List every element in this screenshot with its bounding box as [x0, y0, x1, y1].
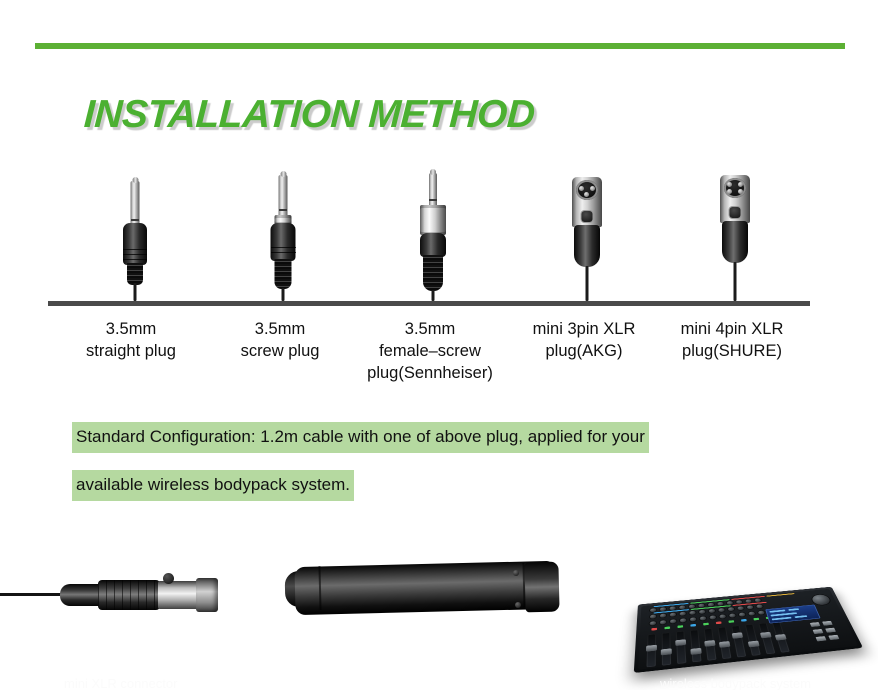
caption-left: mini XLR connector — [64, 676, 177, 690]
plug-label-3p5-screw: 3.5mm screw plug — [196, 318, 364, 362]
product-digital-mixer — [628, 540, 878, 690]
top-accent-rule — [35, 43, 845, 49]
plug-figure-mini-3pin-xlr — [512, 156, 662, 301]
plug-showcase — [0, 160, 878, 310]
caption-right: wireless bodypack system — [660, 676, 811, 690]
plug-label-line: mini 4pin XLR — [648, 318, 816, 340]
product-strip — [0, 540, 878, 690]
3.5mm-female-screw-plug-icon — [411, 156, 455, 301]
plug-label-line: 3.5mm — [196, 318, 364, 340]
plug-shelf-line — [48, 301, 810, 306]
plug-label-3p5-female-screw: 3.5mm female–screw plug(Sennheiser) — [346, 318, 514, 384]
plug-label-mini-3pin-xlr: mini 3pin XLR plug(AKG) — [500, 318, 668, 362]
product-bodypack-mic-body — [285, 540, 575, 690]
plug-label-mini-4pin-xlr: mini 4pin XLR plug(SHURE) — [648, 318, 816, 362]
plug-label-line: plug(Sennheiser) — [346, 362, 514, 384]
mini-3pin-xlr-plug-icon — [565, 156, 609, 301]
plug-label-line: 3.5mm — [47, 318, 215, 340]
plug-label-line: mini 3pin XLR — [500, 318, 668, 340]
product-caption-row: mini XLR connector wireless bodypack sys… — [0, 676, 878, 690]
note-line-2: available wireless bodypack system. — [72, 470, 354, 501]
plug-label-line: 3.5mm — [346, 318, 514, 340]
plug-label-line: straight plug — [47, 340, 215, 362]
plug-figure-3p5-straight — [60, 156, 210, 301]
plug-label-3p5-straight: 3.5mm straight plug — [47, 318, 215, 362]
3.5mm-straight-plug-icon — [115, 156, 155, 301]
3.5mm-screw-plug-icon — [263, 156, 303, 301]
plug-label-line: plug(SHURE) — [648, 340, 816, 362]
plug-figure-3p5-screw — [208, 156, 358, 301]
product-cable-connector — [0, 540, 240, 690]
standard-configuration-note: Standard Configuration: 1.2m cable with … — [72, 422, 796, 501]
plug-figure-mini-4pin-xlr — [660, 156, 810, 301]
plug-label-line: plug(AKG) — [500, 340, 668, 362]
digital-mixing-console-icon — [634, 587, 863, 673]
mini-4pin-xlr-plug-icon — [713, 156, 757, 301]
plug-figure-3p5-female-screw — [358, 156, 508, 301]
page-title: INSTALLATION METHOD — [83, 93, 536, 137]
note-line-1: Standard Configuration: 1.2m cable with … — [72, 422, 649, 453]
plug-label-line: screw plug — [196, 340, 364, 362]
plug-label-line: female–screw — [346, 340, 514, 362]
